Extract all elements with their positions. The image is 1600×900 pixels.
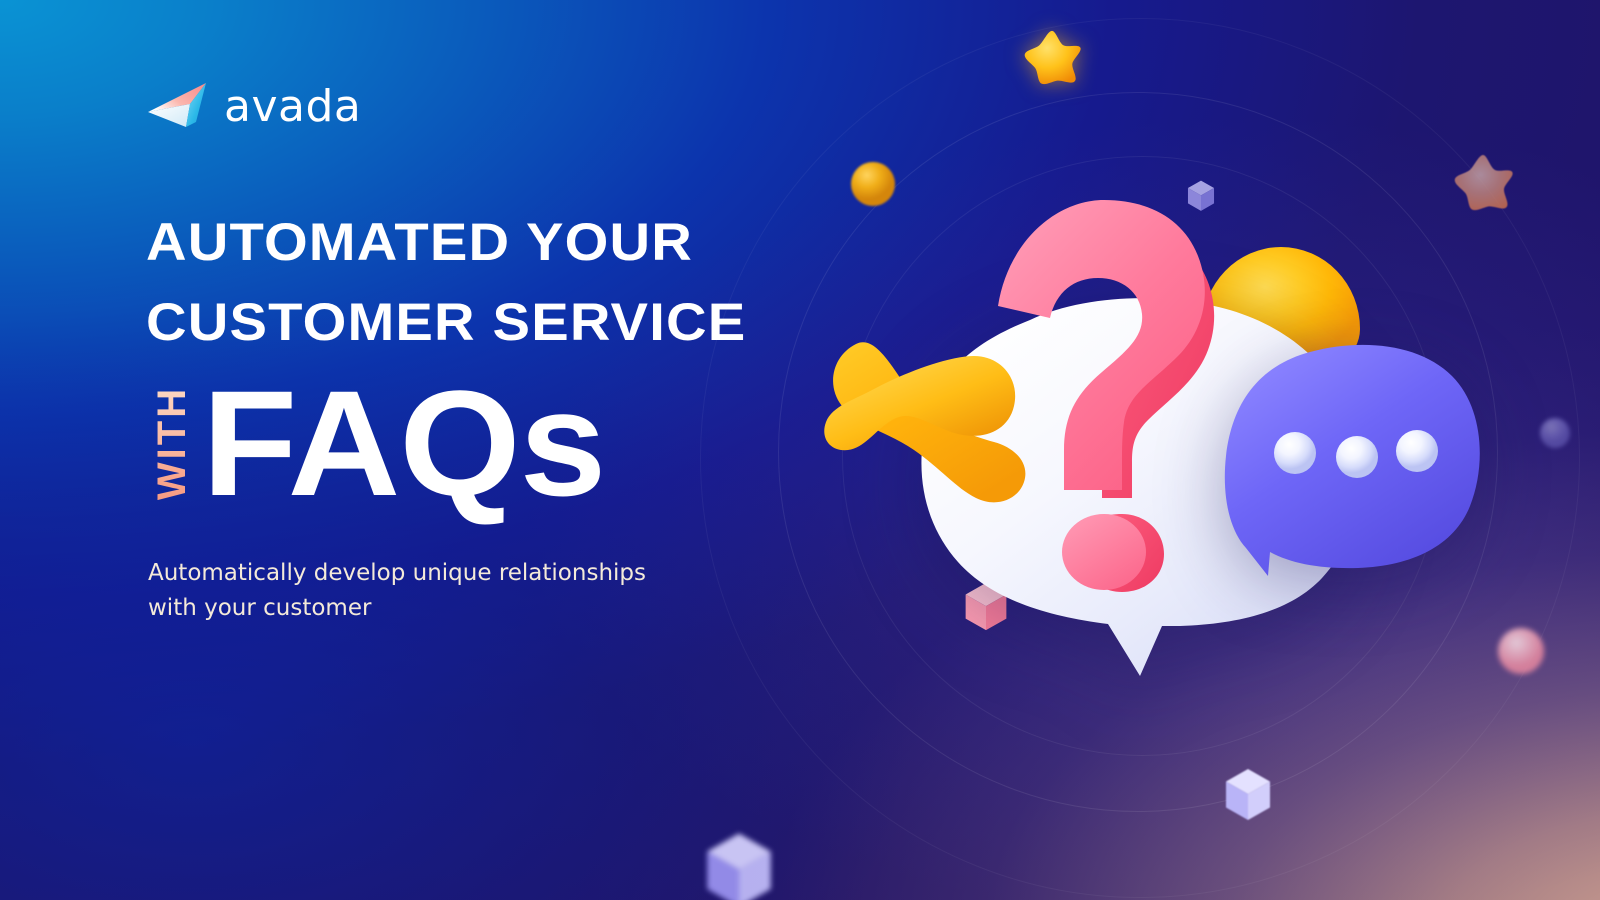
with-label-text: WITH — [152, 386, 192, 500]
brand-logo[interactable]: avada — [146, 82, 361, 132]
typing-dot-3 — [1396, 430, 1438, 472]
faqs-label: FAQs — [202, 368, 605, 518]
subtitle: Automatically develop unique relationshi… — [148, 556, 728, 626]
subtitle-line-2: with your customer — [148, 595, 371, 621]
headline-line-1: AUTOMATED YOUR — [146, 203, 803, 283]
faq-marketing-banner: avada AUTOMATED YOUR CUSTOMER SERVICE WI… — [0, 0, 1600, 900]
faq-3d-illustration — [830, 240, 1510, 720]
paper-plane-logo-icon — [146, 82, 210, 132]
with-label-vertical: WITH — [146, 363, 198, 523]
faqs-feature-title: WITH FAQs — [146, 358, 590, 528]
headline-line-2: CUSTOMER SERVICE — [146, 283, 803, 363]
brand-name: avada — [224, 85, 361, 129]
typing-dot-1 — [1274, 432, 1316, 474]
subtitle-line-1: Automatically develop unique relationshi… — [148, 560, 646, 586]
typing-dot-2 — [1336, 436, 1378, 478]
banner-content: avada AUTOMATED YOUR CUSTOMER SERVICE WI… — [146, 0, 786, 900]
headline: AUTOMATED YOUR CUSTOMER SERVICE — [146, 203, 766, 363]
question-mark-3d — [998, 194, 1236, 594]
